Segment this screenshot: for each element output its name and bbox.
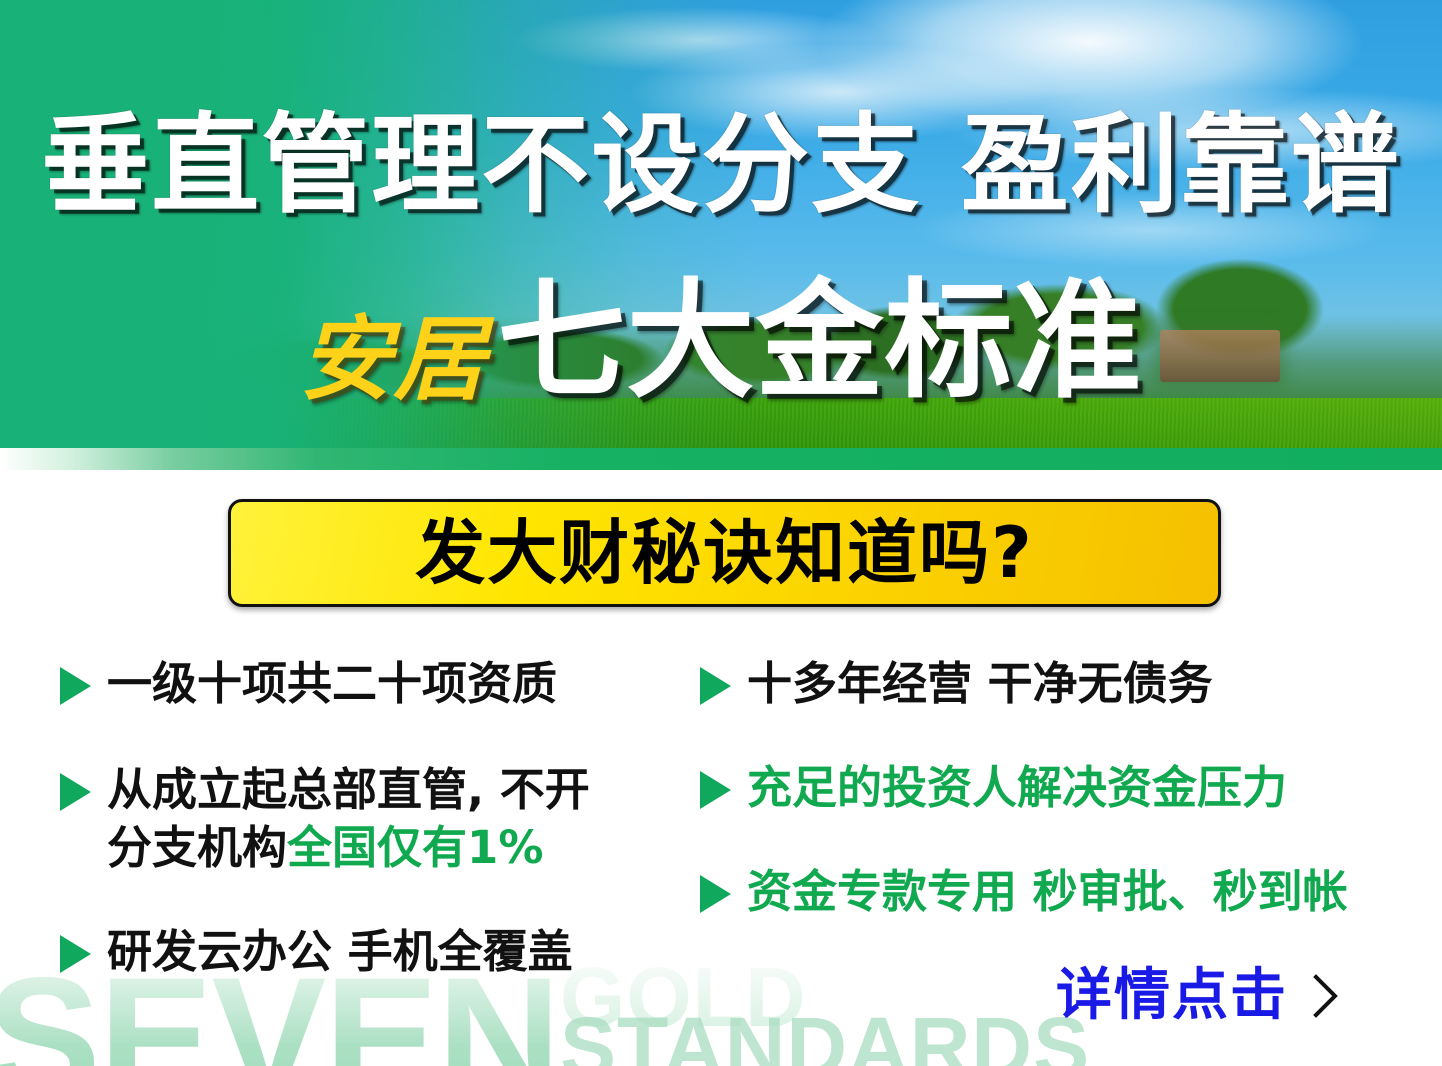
triangle-bullet-icon [60, 935, 91, 973]
advertisement-banner: 垂直管理不设分支 盈利靠谱 安居七大金标准 发大财秘诀知道吗? SEVEN GO… [0, 0, 1442, 1066]
feature-text: 资金专款专用 秒审批、秒到帐 [747, 863, 1348, 921]
question-banner-button[interactable]: 发大财秘诀知道吗? [228, 499, 1221, 607]
triangle-bullet-icon [60, 773, 91, 811]
feature-line: 研发云办公 手机全覆盖 [107, 923, 573, 981]
watermark-standards: STANDARDS [560, 1005, 1090, 1066]
features-section: 一级十项共二十项资质 从成立起总部直管, 不开 分支机构全国仅有1% 研发云办公… [0, 655, 1442, 995]
feature-line: 十多年经营 干净无债务 [747, 655, 1213, 713]
feature-line: 一级十项共二十项资质 [107, 655, 557, 713]
list-item: 研发云办公 手机全覆盖 [60, 923, 573, 981]
feature-text-highlight: 全国仅有1% [287, 821, 543, 874]
feature-line: 充足的投资人解决资金压力 [747, 759, 1287, 817]
list-item: 从成立起总部直管, 不开 分支机构全国仅有1% [60, 761, 590, 876]
feature-text: 从成立起总部直管, 不开 分支机构全国仅有1% [107, 761, 590, 876]
feature-text: 十多年经营 干净无债务 [747, 655, 1213, 713]
feature-text-plain: 分支机构 [107, 821, 287, 874]
list-item: 资金专款专用 秒审批、秒到帐 [700, 863, 1348, 921]
triangle-bullet-icon [700, 667, 731, 705]
feature-text: 充足的投资人解决资金压力 [747, 759, 1287, 817]
list-item: 充足的投资人解决资金压力 [700, 759, 1287, 817]
hero-bottom-green-bar [0, 448, 1442, 470]
chevron-right-icon [1310, 973, 1340, 1019]
feature-line: 分支机构全国仅有1% [107, 819, 590, 877]
hero-headline-main: 七大金标准 [498, 267, 1143, 416]
hero-section: 垂直管理不设分支 盈利靠谱 安居七大金标准 [0, 0, 1442, 470]
hero-headline-line2: 安居七大金标准 [0, 278, 1442, 406]
feature-text: 研发云办公 手机全覆盖 [107, 923, 573, 981]
details-cta-button[interactable]: 详情点击 [1056, 968, 1340, 1024]
triangle-bullet-icon [700, 771, 731, 809]
feature-text: 一级十项共二十项资质 [107, 655, 557, 713]
details-cta-label: 详情点击 [1056, 968, 1288, 1024]
list-item: 一级十项共二十项资质 [60, 655, 557, 713]
feature-line: 从成立起总部直管, 不开 [107, 761, 590, 819]
triangle-bullet-icon [700, 875, 731, 913]
triangle-bullet-icon [60, 667, 91, 705]
feature-line: 资金专款专用 秒审批、秒到帐 [747, 863, 1348, 921]
hero-headline-line1: 垂直管理不设分支 盈利靠谱 [0, 112, 1442, 220]
hero-brand-name: 安居 [299, 306, 487, 413]
question-banner-label: 发大财秘诀知道吗? [415, 518, 1034, 588]
list-item: 十多年经营 干净无债务 [700, 655, 1213, 713]
